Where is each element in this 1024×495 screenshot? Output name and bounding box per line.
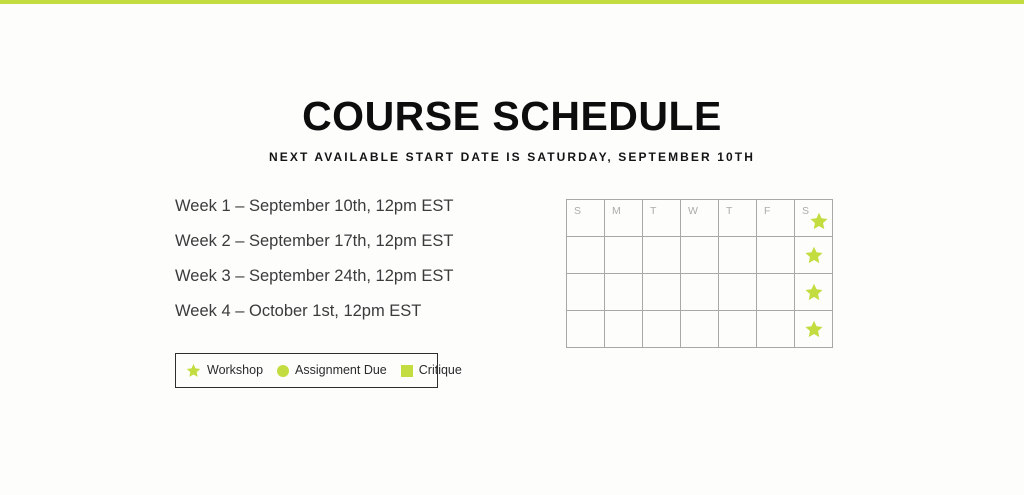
calendar-cell <box>681 274 719 311</box>
legend-item-label: Assignment Due <box>295 364 387 377</box>
star-icon <box>804 320 823 339</box>
calendar-header-cell: T <box>719 200 757 237</box>
calendar-cell <box>795 274 833 311</box>
week-list-item: Week 3 – September 24th, 12pm EST <box>175 268 454 285</box>
calendar-cell <box>681 311 719 348</box>
legend-item-label: Critique <box>419 364 462 377</box>
calendar-cell <box>567 311 605 348</box>
day-label: S <box>802 206 809 217</box>
course-schedule-page: COURSE SCHEDULE NEXT AVAILABLE START DAT… <box>0 0 1024 495</box>
day-label: M <box>612 206 621 217</box>
calendar-header-cell: S <box>795 200 833 237</box>
day-label: F <box>764 206 770 217</box>
star-icon <box>804 283 823 302</box>
day-label: T <box>726 206 732 217</box>
day-label: T <box>650 206 656 217</box>
calendar-row <box>567 237 833 274</box>
calendar-cell <box>643 237 681 274</box>
calendar-cell <box>643 274 681 311</box>
calendar-cell <box>605 274 643 311</box>
calendar-header-cell: T <box>643 200 681 237</box>
calendar-cell <box>605 311 643 348</box>
star-icon <box>810 212 829 231</box>
legend-item: Critique <box>401 364 462 377</box>
calendar-grid: S M T W T F S <box>566 199 833 348</box>
calendar-cell <box>643 311 681 348</box>
calendar-cell <box>757 311 795 348</box>
calendar-cell <box>605 237 643 274</box>
calendar-cell <box>567 274 605 311</box>
legend-item: Workshop <box>186 363 263 378</box>
page-subtitle: NEXT AVAILABLE START DATE IS SATURDAY, S… <box>0 151 1024 163</box>
star-icon <box>804 246 823 265</box>
calendar-cell <box>757 274 795 311</box>
calendar-header-cell: M <box>605 200 643 237</box>
calendar-cell <box>795 237 833 274</box>
calendar-header-cell: W <box>681 200 719 237</box>
week-list-item: Week 2 – September 17th, 12pm EST <box>175 233 454 250</box>
calendar-cell <box>795 311 833 348</box>
legend-item: Assignment Due <box>277 364 387 377</box>
calendar-row <box>567 274 833 311</box>
calendar-header-cell: S <box>567 200 605 237</box>
top-accent-bar <box>0 0 1024 4</box>
calendar-cell <box>719 274 757 311</box>
calendar-cell <box>719 311 757 348</box>
calendar-cell <box>719 237 757 274</box>
calendar-cell <box>757 237 795 274</box>
calendar-cell <box>567 237 605 274</box>
week-list: Week 1 – September 10th, 12pm EST Week 2… <box>175 198 454 338</box>
square-icon <box>401 365 413 377</box>
legend-item-label: Workshop <box>207 364 263 377</box>
day-label: W <box>688 206 698 217</box>
day-label: S <box>574 206 581 217</box>
calendar-header-row: S M T W T F S <box>567 200 833 237</box>
legend: Workshop Assignment Due Critique <box>175 353 438 388</box>
calendar-row <box>567 311 833 348</box>
star-icon <box>186 363 201 378</box>
calendar-header-cell: F <box>757 200 795 237</box>
week-list-item: Week 1 – September 10th, 12pm EST <box>175 198 454 215</box>
week-list-item: Week 4 – October 1st, 12pm EST <box>175 303 454 320</box>
circle-icon <box>277 365 289 377</box>
calendar-cell <box>681 237 719 274</box>
page-title: COURSE SCHEDULE <box>0 96 1024 137</box>
